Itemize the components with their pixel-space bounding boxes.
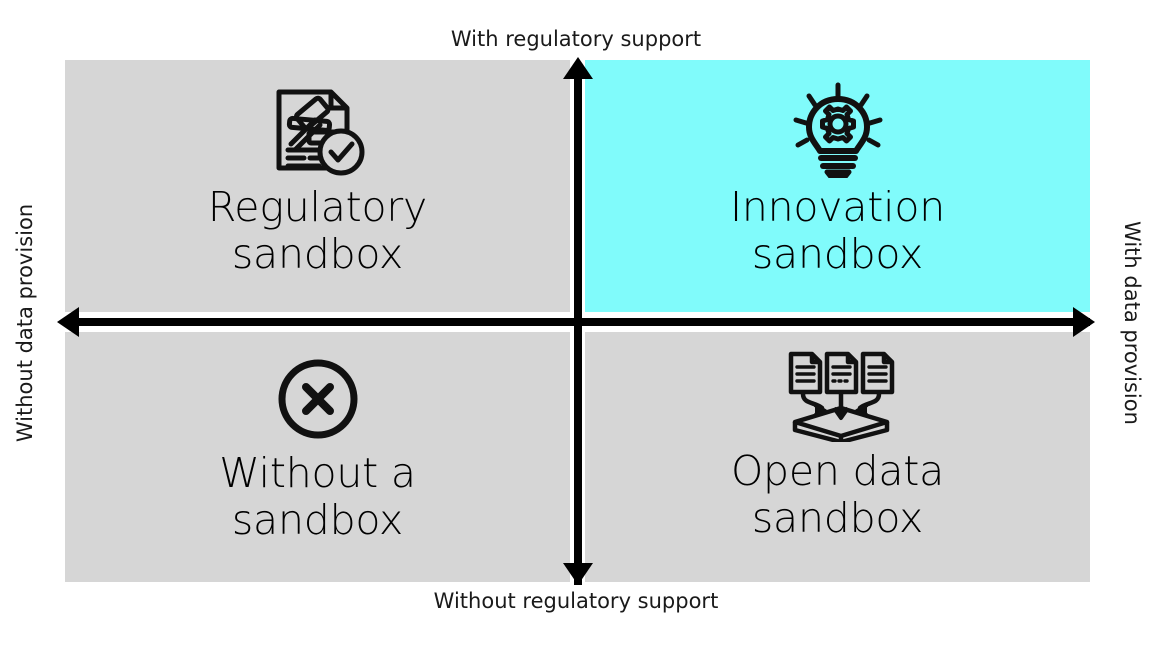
quadrant-innovation-sandbox[interactable]: Innovation sandbox [585,60,1090,312]
arrow-down-icon [563,563,593,585]
quadrant-without-sandbox[interactable]: Without a sandbox [65,332,570,582]
axis-caption-right: With data provision [1120,163,1144,483]
axis-caption-top: With regulatory support [0,27,1152,51]
horizontal-axis-line [68,318,1090,326]
document-gavel-check-icon [265,82,371,178]
quadrant-label: Innovation sandbox [730,184,945,277]
documents-into-box-icon [779,350,897,442]
arrow-up-icon [563,57,593,79]
quadrant-label: Without a sandbox [219,450,416,543]
matrix-diagram: Regulatory sandbox [0,0,1152,648]
arrow-right-icon [1073,307,1095,337]
axis-caption-left: Without data provision [13,163,37,483]
lightbulb-gear-icon [784,82,892,178]
axis-caption-bottom: Without regulatory support [0,589,1152,613]
arrow-left-icon [57,307,79,337]
quadrant-regulatory-sandbox[interactable]: Regulatory sandbox [65,60,570,312]
quadrant-open-data-sandbox[interactable]: Open data sandbox [585,332,1090,582]
quadrant-label: Open data sandbox [731,448,944,541]
vertical-axis-line [574,72,582,585]
quadrant-label: Regulatory sandbox [208,184,427,277]
circle-x-icon [277,356,359,442]
